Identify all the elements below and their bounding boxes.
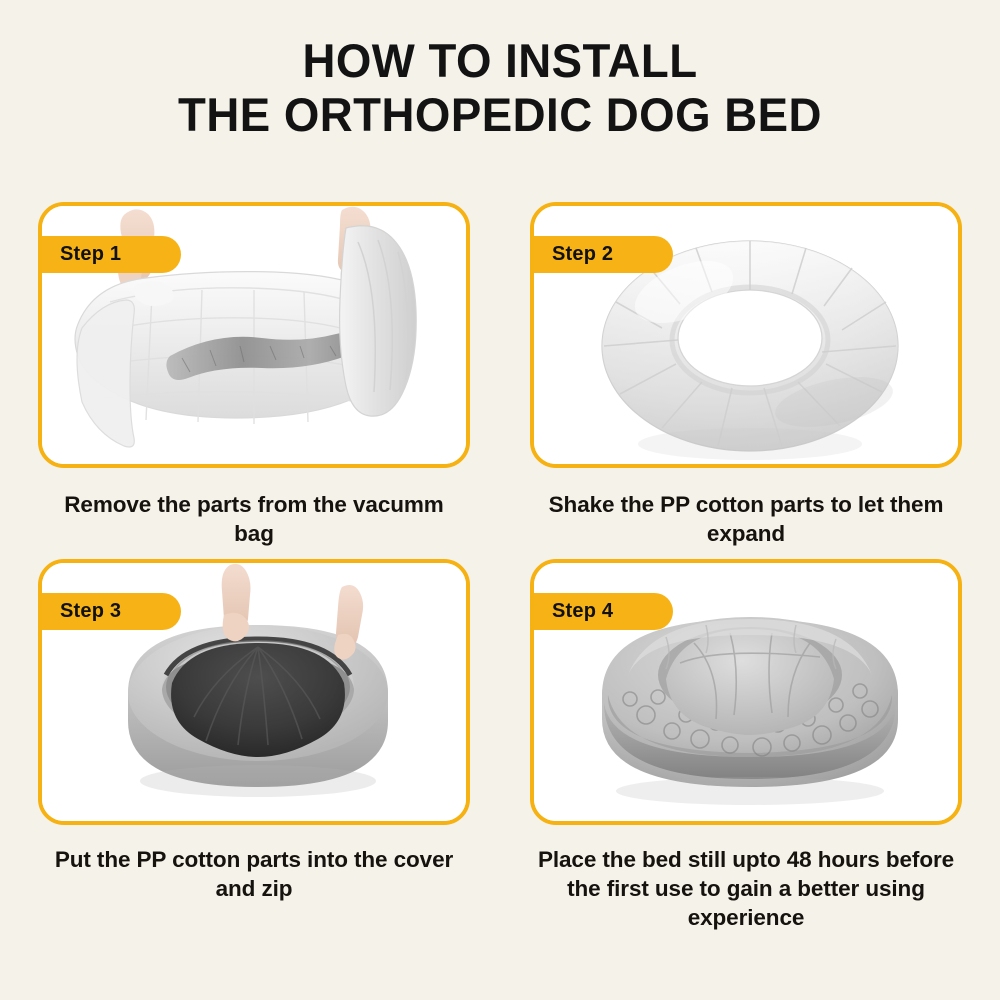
step-2-image-card: Step 2 bbox=[530, 202, 962, 468]
step-4-caption: Place the bed still upto 48 hours before… bbox=[530, 845, 962, 933]
step-card-2: Step 2 Shake the PP cotton parts to let … bbox=[530, 202, 962, 549]
title-line-2: THE ORTHOPEDIC DOG BED bbox=[15, 88, 985, 142]
step-2-caption: Shake the PP cotton parts to let them ex… bbox=[530, 490, 962, 549]
infographic-page: HOW TO INSTALL THE ORTHOPEDIC DOG BED bbox=[0, 0, 1000, 1000]
step-3-badge: Step 3 bbox=[38, 593, 181, 630]
step-1-badge: Step 1 bbox=[38, 236, 181, 273]
step-card-4: Step 4 Place the bed still upto 48 hours… bbox=[530, 559, 962, 933]
step-4-image-card: Step 4 bbox=[530, 559, 962, 825]
title-line-1: HOW TO INSTALL bbox=[15, 34, 985, 88]
step-card-3: Step 3 Put the PP cotton parts into the … bbox=[38, 559, 470, 933]
step-2-badge: Step 2 bbox=[530, 236, 673, 273]
step-1-caption: Remove the parts from the vacumm bag bbox=[38, 490, 470, 549]
step-1-image-card: Step 1 bbox=[38, 202, 470, 468]
steps-grid: Step 1 Remove the parts from the vacumm … bbox=[38, 202, 962, 932]
page-title: HOW TO INSTALL THE ORTHOPEDIC DOG BED bbox=[0, 0, 1000, 141]
step-card-1: Step 1 Remove the parts from the vacumm … bbox=[38, 202, 470, 549]
step-4-badge: Step 4 bbox=[530, 593, 673, 630]
step-3-image-card: Step 3 bbox=[38, 559, 470, 825]
step-3-caption: Put the PP cotton parts into the cover a… bbox=[38, 845, 470, 904]
